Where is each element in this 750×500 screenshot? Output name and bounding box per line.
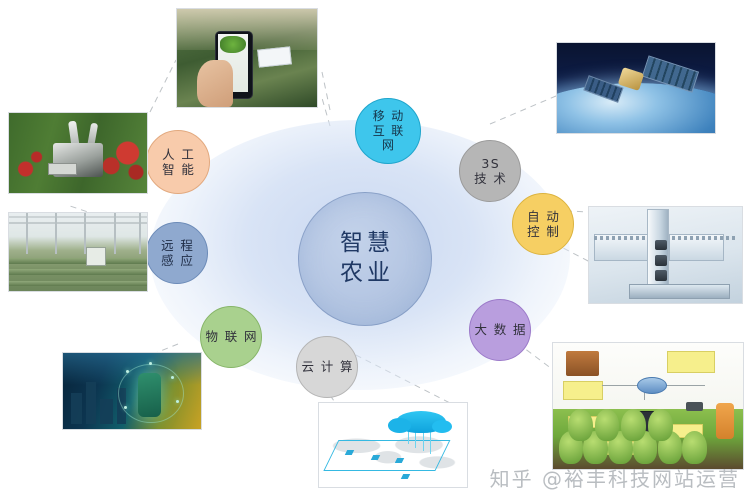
camera-icon [686, 402, 703, 411]
photo-cloud-network-diagram [318, 402, 468, 488]
node-remote-sensing-label: 远 程 感 应 [160, 238, 195, 269]
greenhouse-roof-far [9, 216, 147, 218]
callout-note [667, 351, 715, 373]
hand-icon [197, 60, 233, 107]
cloud-icon [396, 411, 446, 433]
cloud-ray [430, 431, 431, 455]
gantry-motor-icon [655, 240, 667, 251]
node-mobile-internet[interactable]: 移 动 互 联 网 [355, 98, 421, 164]
crop-bush [621, 409, 646, 442]
crop-row [8, 281, 148, 286]
watermark: 知乎 @裕丰科技网站运营 [490, 463, 740, 492]
building [86, 382, 96, 425]
node-iot[interactable]: 物 联 网 [200, 306, 262, 368]
price-tag-icon [257, 47, 291, 68]
photo-iot-smart-city [62, 352, 202, 430]
gantry-base-icon [629, 284, 730, 299]
photo-smartphone-vegetable-scan [176, 8, 318, 108]
greenhouse-cart-icon [86, 247, 106, 266]
crop-row [8, 258, 148, 263]
center-node[interactable]: 智慧 农业 [298, 192, 432, 326]
sensor-link [663, 385, 705, 386]
gantry-motor-icon [655, 270, 667, 281]
link-ai-photo-2 [150, 60, 176, 112]
farm-house-icon [566, 351, 598, 376]
gantry-motor-icon [655, 255, 667, 266]
building [71, 393, 82, 425]
photo-tomato-harvest-robot [8, 112, 148, 194]
greenhouse-beam [55, 213, 57, 254]
vegetable-thumb-icon [220, 36, 245, 53]
greenhouse-beam [84, 213, 86, 254]
infographic-canvas: 智慧 农业 人 工 智 能 移 动 互 联 网 3S 技 术 自 动 控 制 大… [0, 0, 750, 500]
photo-greenhouse-interior [8, 212, 148, 292]
greenhouse-beam [139, 213, 141, 254]
photo-smart-farm-illustration [552, 342, 744, 470]
cloud-ray [415, 431, 416, 448]
node-3s-tech-label: 3S 技 术 [473, 156, 508, 187]
building [100, 399, 112, 425]
node-ai[interactable]: 人 工 智 能 [146, 130, 210, 194]
node-cloud-computing-label: 云 计 算 [300, 359, 354, 374]
photo-gantry-automation [588, 206, 743, 304]
crop-bush [682, 431, 707, 464]
crop-bush [568, 409, 593, 442]
network-node-dot [171, 376, 174, 379]
crop-row [8, 269, 148, 274]
cloud-ray [423, 431, 424, 451]
network-node-dot [149, 362, 152, 365]
crop-bush [595, 409, 620, 442]
node-cloud-computing[interactable]: 云 计 算 [296, 336, 358, 398]
node-remote-sensing[interactable]: 远 程 感 应 [146, 222, 208, 284]
crop-bush [648, 409, 673, 442]
center-node-label: 智慧 农业 [336, 229, 394, 289]
cloud-ray [408, 431, 409, 444]
data-hub-icon [637, 377, 668, 394]
link-3s-photo [490, 96, 556, 124]
node-big-data-label: 大 数 据 [473, 322, 527, 337]
photo-satellite-earth-orbit [556, 42, 716, 134]
greenhouse-beam [26, 213, 28, 254]
node-mobile-internet-label: 移 动 互 联 网 [371, 109, 404, 153]
greenhouse-roof-near [9, 222, 147, 224]
node-big-data[interactable]: 大 数 据 [469, 299, 531, 361]
iot-device-icon [138, 373, 161, 417]
node-3s-tech[interactable]: 3S 技 术 [459, 140, 521, 202]
greenhouse-beam [114, 213, 116, 254]
network-endpoint [401, 474, 410, 479]
node-ai-label: 人 工 智 能 [161, 147, 196, 178]
harvest-tray-icon [48, 163, 78, 175]
node-auto-control-label: 自 动 控 制 [526, 209, 561, 240]
link-mobile-photo [322, 72, 330, 110]
node-iot-label: 物 联 网 [204, 329, 258, 344]
network-node-dot [124, 406, 127, 409]
farmer-icon [716, 403, 733, 438]
callout-note [563, 381, 603, 401]
node-auto-control[interactable]: 自 动 控 制 [512, 193, 574, 255]
